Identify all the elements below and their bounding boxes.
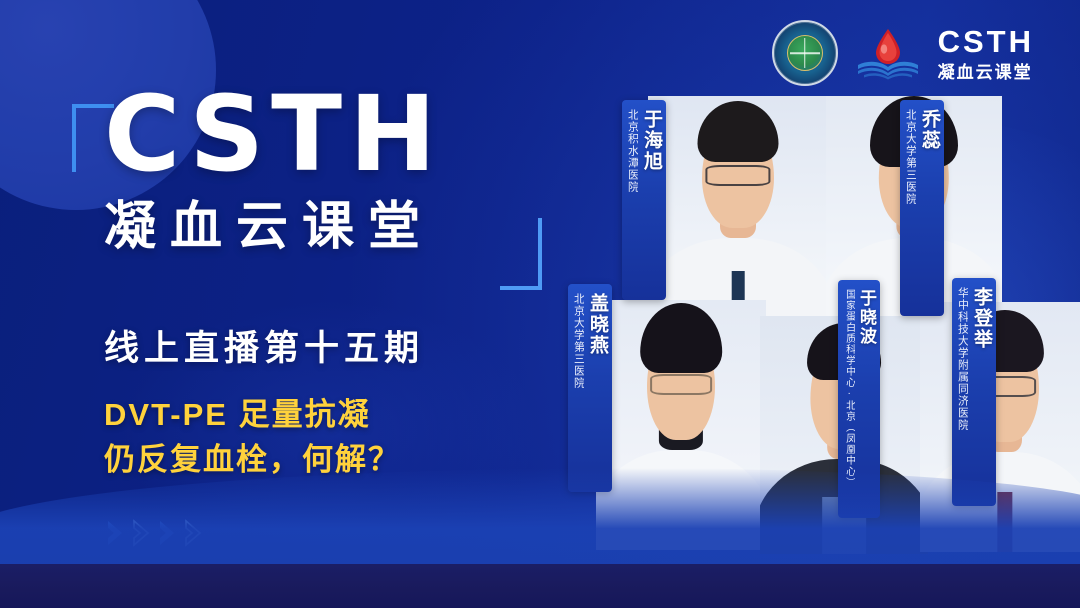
portrait-graphic <box>648 96 828 332</box>
subtitle-block: 线上直播第十五期 DVT-PE 足量抗凝 仍反复血栓，何解？ <box>104 320 524 483</box>
speaker-name: 乔蕊 <box>918 109 939 151</box>
page-title: CSTH <box>104 82 534 186</box>
speaker-affiliation: 北京大学第三医院 <box>905 109 916 205</box>
speaker-photo <box>648 96 828 332</box>
speaker-nametag: 于海旭 北京积水潭医院 <box>622 100 666 300</box>
speaker-name: 李登举 <box>970 287 991 350</box>
speaker-nametag: 盖晓燕 北京大学第三医院 <box>568 284 612 492</box>
webinar-poster: CSTH 凝血云课堂 CSTH 凝血云课堂 线上直播第十五期 DVT-PE 足量… <box>0 0 1080 608</box>
speaker-affiliation: 北京大学第三医院 <box>573 293 584 389</box>
speaker-affiliation: 北京积水潭医院 <box>627 109 638 193</box>
page-title-cn: 凝血云课堂 <box>104 200 534 255</box>
title-block: CSTH 凝血云课堂 <box>104 82 534 255</box>
speaker-affiliation: 国家蛋白质科学中心·北京（凤凰中心） <box>843 289 855 488</box>
topic-line-1: DVT-PE 足量抗凝 <box>104 393 524 438</box>
speaker-affiliation: 华中科技大学附属同济医院 <box>957 287 968 431</box>
episode-label: 线上直播第十五期 <box>104 320 524 371</box>
bottom-band <box>0 564 1080 608</box>
speaker-nametag: 乔蕊 北京大学第三医院 <box>900 100 944 316</box>
speaker-name: 于晓波 <box>857 289 875 346</box>
speaker-name: 于海旭 <box>640 109 661 172</box>
speaker-name: 盖晓燕 <box>586 293 607 356</box>
speaker-nametag: 李登举 华中科技大学附属同济医院 <box>952 278 996 506</box>
